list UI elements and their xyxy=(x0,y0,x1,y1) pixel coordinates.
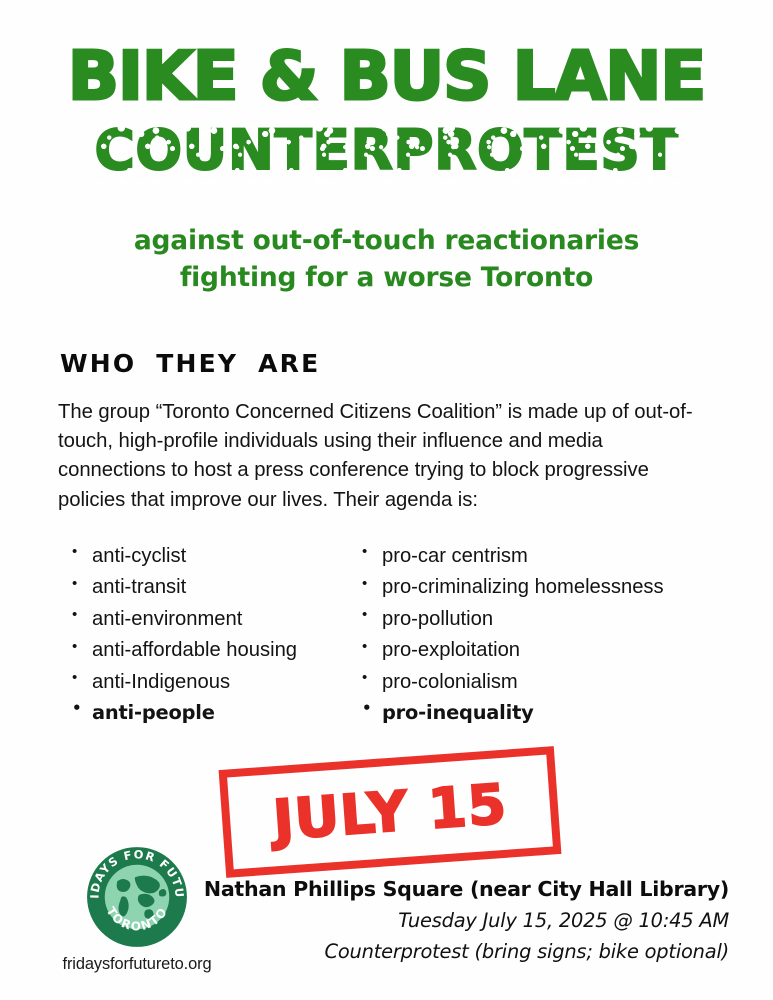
page-title: BIKE & BUS LANE xyxy=(0,44,773,110)
event-details: Nathan Phillips Square (near City Hall L… xyxy=(204,875,729,966)
list-item: anti-people xyxy=(72,698,362,728)
list-item: pro-criminalizing homelessness xyxy=(362,572,722,603)
poster-canvas: BIKE & BUS LANE COUNTERPROTEST against o… xyxy=(0,0,773,1000)
agenda-list-right: pro-car centrism pro-criminalizing homel… xyxy=(362,541,722,728)
agenda-columns: anti-cyclist anti-transit anti-environme… xyxy=(0,541,773,728)
list-item: anti-cyclist xyxy=(72,541,362,572)
poster-footer: FRIDAYS FOR FUTURE TORONTO fridaysforfut… xyxy=(0,834,773,974)
poster-header: BIKE & BUS LANE COUNTERPROTEST xyxy=(0,0,773,178)
event-note: Counterprotest (bring signs; bike option… xyxy=(204,938,729,966)
list-item: pro-exploitation xyxy=(362,635,722,666)
list-item: anti-Indigenous xyxy=(72,667,362,698)
event-location: Nathan Phillips Square (near City Hall L… xyxy=(204,875,729,903)
page-title-secondary: COUNTERPROTEST xyxy=(95,122,679,178)
section-heading-who-they-are: WHO THEY ARE xyxy=(60,349,773,378)
tagline-line-2: fighting for a worse Toronto xyxy=(0,259,773,297)
agenda-column-right: pro-car centrism pro-criminalizing homel… xyxy=(362,541,722,728)
list-item: anti-affordable housing xyxy=(72,635,362,666)
poster-tagline: against out-of-touch reactionaries fight… xyxy=(0,222,773,297)
list-item: pro-colonialism xyxy=(362,667,722,698)
list-item: pro-pollution xyxy=(362,604,722,635)
section-body-text: The group “Toronto Concerned Citizens Co… xyxy=(58,398,713,515)
list-item: pro-car centrism xyxy=(362,541,722,572)
list-item: anti-environment xyxy=(72,604,362,635)
agenda-column-left: anti-cyclist anti-transit anti-environme… xyxy=(72,541,362,728)
list-item: pro-inequality xyxy=(362,698,722,728)
event-datetime: Tuesday July 15, 2025 @ 10:45 AM xyxy=(204,907,729,935)
fridays-for-future-toronto-logo: FRIDAYS FOR FUTURE TORONTO xyxy=(85,845,189,949)
page-subtitle-display-wrap: COUNTERPROTEST xyxy=(0,122,773,178)
tagline-line-1: against out-of-touch reactionaries xyxy=(0,222,773,260)
agenda-list-left: anti-cyclist anti-transit anti-environme… xyxy=(72,541,362,728)
list-item: anti-transit xyxy=(72,572,362,603)
